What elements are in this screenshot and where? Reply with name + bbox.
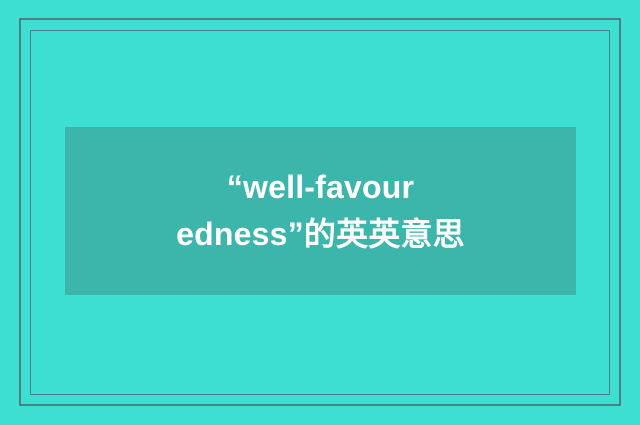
poster-canvas: “well-favour edness”的英英意思: [0, 0, 640, 425]
page-title: “well-favour edness”的英英意思: [160, 164, 481, 257]
title-panel: “well-favour edness”的英英意思: [65, 127, 576, 295]
